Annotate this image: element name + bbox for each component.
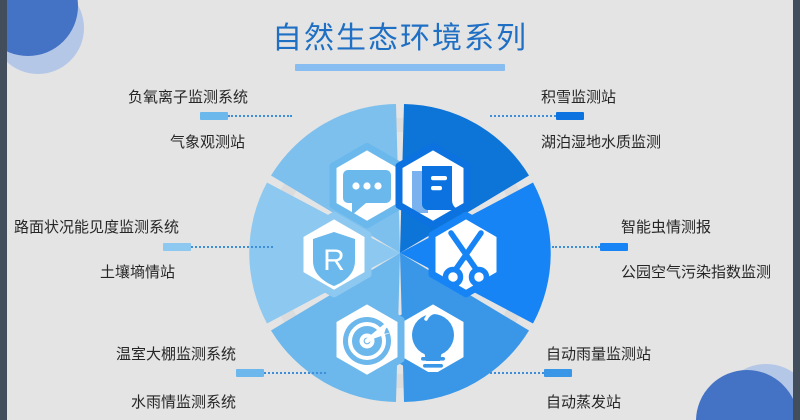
shield-letter: R <box>323 244 345 277</box>
right-edge-bar <box>793 0 800 420</box>
label-chat-top: 负氧离子监测系统 <box>128 88 248 108</box>
hex-badge-document[interactable] <box>399 146 467 224</box>
label-bulb-bottom: 自动蒸发站 <box>546 393 621 413</box>
hex-badge-scissors[interactable] <box>432 215 500 293</box>
connector-dots <box>552 246 600 248</box>
connector-dash <box>236 369 264 377</box>
hex-badge-chat[interactable] <box>333 146 401 224</box>
hex-badge-shield[interactable]: R <box>300 215 368 293</box>
connector-bulb <box>490 369 572 377</box>
hex-badge-bulb[interactable] <box>399 300 467 378</box>
connector-chat <box>200 112 292 120</box>
connector-dash <box>200 112 228 120</box>
connector-dots <box>490 115 556 117</box>
connector-dots <box>490 372 544 374</box>
connector-document <box>490 112 584 120</box>
label-document-top: 积雪监测站 <box>541 88 616 108</box>
label-chat-bottom: 气象观测站 <box>170 133 245 153</box>
slide-canvas: 自然生态环境系列 <box>0 0 800 420</box>
label-target-bottom: 水雨情监测系统 <box>131 393 236 413</box>
connector-shield <box>163 243 273 251</box>
connector-dots <box>191 246 273 248</box>
label-shield-bottom: 土壤墒情站 <box>100 263 175 283</box>
connector-dots <box>264 372 326 374</box>
connector-target <box>236 369 326 377</box>
label-target-top: 温室大棚监测系统 <box>116 345 236 365</box>
connector-dash <box>163 243 191 251</box>
hex-badge-target[interactable] <box>333 300 401 378</box>
label-shield-top: 路面状况能见度监测系统 <box>14 218 179 238</box>
connector-dash <box>600 243 628 251</box>
connector-scissors <box>552 243 628 251</box>
page-title: 自然生态环境系列 <box>0 20 800 58</box>
label-scissors-top: 智能虫情测报 <box>621 218 711 238</box>
label-scissors-bottom: 公园空气污染指数监测 <box>621 263 771 283</box>
title-underline-rule <box>295 64 505 71</box>
connector-dash <box>556 112 584 120</box>
label-document-bottom: 湖泊湿地水质监测 <box>541 133 661 153</box>
connector-dots <box>228 115 292 117</box>
title-block: 自然生态环境系列 <box>0 20 800 71</box>
connector-dash <box>544 369 572 377</box>
label-bulb-top: 自动雨量监测站 <box>546 345 651 365</box>
left-edge-bar <box>0 0 7 420</box>
